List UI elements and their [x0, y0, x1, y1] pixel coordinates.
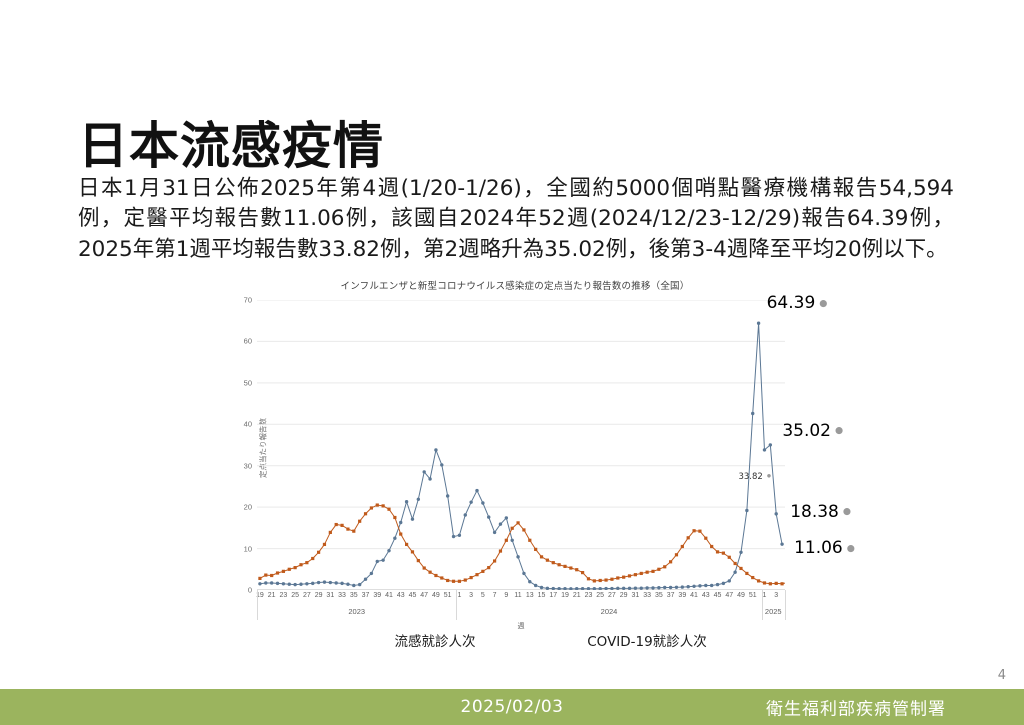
chart-x-tick: 47 [725, 592, 733, 599]
chart-x-tick: 35 [655, 592, 663, 599]
chart-y-tick: 70 [244, 296, 252, 305]
chart-x-tick: 3 [469, 592, 473, 599]
chart-legend: 流感就診人次 COVID-19就診人次 [257, 630, 785, 662]
chart-y-tick: 30 [244, 461, 252, 470]
chart-x-tick: 43 [397, 592, 405, 599]
chart-x-tick: 39 [678, 592, 686, 599]
slide-canvas: 日本流感疫情 日本1月31日公佈2025年第4週(1/20-1/26)，全國約5… [0, 0, 1024, 725]
chart-y-tick: 50 [244, 378, 252, 387]
chart-x-tick: 19 [561, 592, 569, 599]
chart-series-influenza [258, 322, 784, 590]
chart-data-label: 33.82● [738, 472, 770, 482]
chart-x-tick: 21 [573, 592, 581, 599]
chart-year-label: 2023 [348, 607, 365, 616]
chart-x-tick: 15 [538, 592, 546, 599]
chart-x-tick: 17 [549, 592, 557, 599]
chart-x-tick: 27 [608, 592, 616, 599]
chart-x-tick: 51 [749, 592, 757, 599]
chart-x-tick: 11 [514, 592, 521, 599]
chart-x-tick: 1 [457, 592, 461, 599]
chart-x-tick: 27 [303, 592, 311, 599]
chart-x-tick: 31 [631, 592, 639, 599]
chart-container: インフルエンザと新型コロナウイルス感染症の定点当たり報告数の推移（全国） 定点当… [205, 278, 825, 668]
chart-x-tick: 7 [493, 592, 497, 599]
chart-year-label: 2024 [601, 607, 618, 616]
chart-x-tick: 33 [338, 592, 346, 599]
chart-data-label: 35.02● [782, 421, 843, 441]
chart-plot-area: 定点当たり報告数 010203040506070 64.39●35.02●33.… [257, 300, 785, 590]
chart-x-tick: 29 [620, 592, 628, 599]
chart-x-tick: 31 [326, 592, 334, 599]
chart-y-tick: 40 [244, 420, 252, 429]
chart-data-label: 11.06● [794, 538, 855, 558]
chart-x-tick: 9 [504, 592, 508, 599]
chart-x-tick: 41 [690, 592, 698, 599]
chart-x-tick: 51 [444, 592, 452, 599]
chart-x-tick: 1 [763, 592, 767, 599]
chart-y-tick: 60 [244, 337, 252, 346]
chart-x-tick: 45 [714, 592, 722, 599]
chart-y-tick: 0 [248, 586, 252, 595]
chart-x-tick: 37 [362, 592, 370, 599]
chart-year-label: 2025 [765, 607, 782, 616]
chart-x-tick: 5 [481, 592, 485, 599]
legend-item-covid: COVID-19就診人次 [587, 630, 706, 650]
footer-date: 2025/02/03 [461, 697, 564, 717]
chart-y-tick: 10 [244, 544, 252, 553]
chart-x-tick: 37 [667, 592, 675, 599]
chart-x-tick: 41 [385, 592, 393, 599]
slide-body-text: 日本1月31日公佈2025年第4週(1/20-1/26)，全國約5000個哨點醫… [78, 174, 954, 266]
chart-x-tick: 3 [774, 592, 778, 599]
footer-bar: 2025/02/03 衛生福利部疾病管制署 [0, 689, 1024, 725]
chart-x-tick: 47 [420, 592, 428, 599]
legend-item-influenza: 流感就診人次 [395, 630, 476, 650]
chart-x-tick: 29 [315, 592, 323, 599]
chart-axis-edge [785, 590, 786, 620]
chart-x-tick: 23 [585, 592, 593, 599]
chart-title: インフルエンザと新型コロナウイルス感染症の定点当たり報告数の推移（全国） [205, 278, 825, 292]
page-number: 4 [998, 668, 1006, 683]
chart-x-tick: 33 [643, 592, 651, 599]
chart-series-covid [258, 503, 785, 585]
chart-x-tick: 21 [268, 592, 276, 599]
page-title: 日本流感疫情 [78, 120, 384, 173]
chart-axis-edge [257, 590, 258, 620]
chart-x-tick: 25 [596, 592, 604, 599]
chart-series-svg [257, 300, 785, 590]
chart-y-tick: 20 [244, 503, 252, 512]
footer-organization: 衛生福利部疾病管制署 [766, 695, 946, 720]
chart-x-tick: 35 [350, 592, 358, 599]
chart-x-tick: 23 [279, 592, 287, 599]
chart-x-tick: 49 [432, 592, 440, 599]
chart-x-tick: 43 [702, 592, 710, 599]
chart-data-label: 18.38● [790, 502, 851, 522]
chart-x-tick: 39 [373, 592, 381, 599]
chart-x-tick: 49 [737, 592, 745, 599]
chart-x-tick: 25 [291, 592, 299, 599]
chart-x-axis: 週 19212325272931333537394143454749512023… [257, 590, 785, 628]
chart-x-tick: 13 [526, 592, 534, 599]
chart-data-label: 64.39● [767, 293, 828, 313]
chart-x-tick: 45 [409, 592, 417, 599]
